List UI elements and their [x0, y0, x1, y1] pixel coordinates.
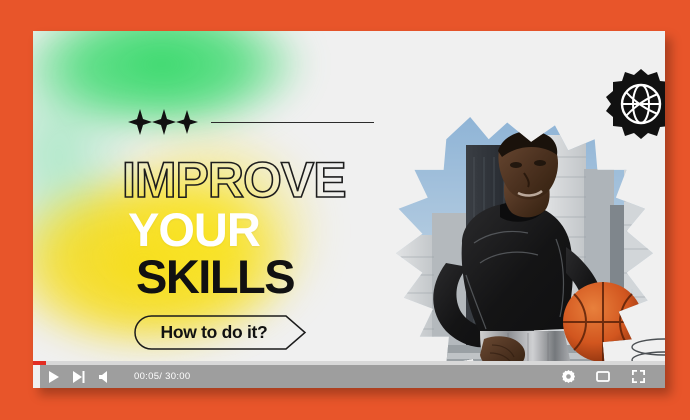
screenshot-root: IMPROVE YOUR SKILLS How to do it? [0, 0, 690, 420]
settings-button[interactable] [555, 365, 581, 388]
video-card: IMPROVE YOUR SKILLS How to do it? [33, 31, 665, 388]
globe-badge-logo [605, 68, 665, 140]
three-star-sparkle-icon [128, 108, 200, 136]
fullscreen-button[interactable] [625, 365, 651, 388]
video-controls-bar: 00:05/ 30:00 [40, 365, 665, 388]
basketball-player-photo [388, 117, 653, 388]
how-to-do-it-button[interactable]: How to do it? [134, 315, 309, 350]
play-button[interactable] [40, 365, 66, 388]
headline-line-3: SKILLS [136, 253, 294, 300]
how-to-do-it-label: How to do it? [134, 315, 294, 350]
headline-line-2: YOUR [128, 206, 260, 253]
headline-line-1: IMPROVE [122, 155, 346, 205]
right-controls-group [555, 365, 651, 388]
theater-mode-button[interactable] [590, 365, 616, 388]
video-timestamp: 00:05/ 30:00 [134, 371, 190, 382]
decorative-rule [211, 122, 374, 123]
next-button[interactable] [66, 365, 92, 388]
volume-button[interactable] [92, 365, 118, 388]
